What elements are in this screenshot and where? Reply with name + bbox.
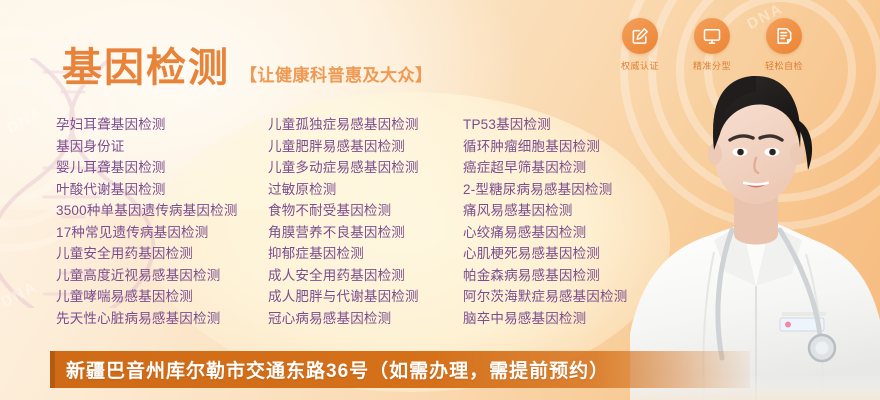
list-item: 儿童哮喘易感基因检测 bbox=[56, 286, 268, 308]
list-item: 儿童安全用药基因检测 bbox=[56, 243, 268, 265]
page-title: 基因检测 bbox=[62, 48, 230, 88]
feature-badge-easy-self-test[interactable]: 轻松自检 bbox=[756, 18, 812, 72]
test-items-column-2: 儿童孤独症易感基因检测 儿童肥胖易感基因检测 儿童多动症易感基因检测 过敏原检测… bbox=[268, 114, 463, 329]
list-item: 婴儿耳聋基因检测 bbox=[56, 157, 268, 179]
certificate-pen-icon bbox=[630, 26, 650, 46]
feature-icon-circle bbox=[694, 18, 730, 54]
list-item: 心肌梗死易感基因检测 bbox=[463, 243, 693, 265]
list-item: 痛风易感基因检测 bbox=[463, 200, 693, 222]
report-document-icon bbox=[774, 26, 794, 46]
list-item: TP53基因检测 bbox=[463, 114, 693, 136]
page-subtitle: 【让健康科普惠及大众】 bbox=[240, 67, 433, 88]
list-item: 成人肥胖与代谢基因检测 bbox=[268, 286, 463, 308]
gene-testing-promo-banner: DNA DNA DNA 基因检测 【让健康科普惠及大众】 权威认证 bbox=[0, 0, 880, 400]
list-item: 叶酸代谢基因检测 bbox=[56, 179, 268, 201]
list-item: 癌症超早筛基因检测 bbox=[463, 157, 693, 179]
list-item: 脑卒中易感基因检测 bbox=[463, 308, 693, 330]
list-item: 食物不耐受基因检测 bbox=[268, 200, 463, 222]
feature-icon-circle bbox=[622, 18, 658, 54]
list-item: 儿童多动症易感基因检测 bbox=[268, 157, 463, 179]
list-item: 先天性心脏病易感基因检测 bbox=[56, 308, 268, 330]
feature-badge-label: 权威认证 bbox=[621, 59, 659, 72]
feature-icon-circle bbox=[766, 18, 802, 54]
list-item: 儿童孤独症易感基因检测 bbox=[268, 114, 463, 136]
feature-badge-precise-typing[interactable]: 精准分型 bbox=[684, 18, 740, 72]
list-item: 成人安全用药基因检测 bbox=[268, 265, 463, 287]
list-item: 阿尔茨海默症易感基因检测 bbox=[463, 286, 693, 308]
address-banner: 新疆巴音州库尔勒市交通东路36号（如需办理，需提前预约） bbox=[50, 351, 750, 388]
list-item: 心绞痛易感基因检测 bbox=[463, 222, 693, 244]
test-items-columns: 孕妇耳聋基因检测 基因身份证 婴儿耳聋基因检测 叶酸代谢基因检测 3500种单基… bbox=[56, 114, 693, 329]
list-item: 17种常见遗传病基因检测 bbox=[56, 222, 268, 244]
list-item: 帕金森病易感基因检测 bbox=[463, 265, 693, 287]
list-item: 抑郁症基因检测 bbox=[268, 243, 463, 265]
corner-watermark: DNA bbox=[0, 278, 40, 311]
list-item: 孕妇耳聋基因检测 bbox=[56, 114, 268, 136]
list-item: 儿童肥胖易感基因检测 bbox=[268, 136, 463, 158]
list-item: 儿童高度近视易感基因检测 bbox=[56, 265, 268, 287]
corner-watermark: DNA bbox=[4, 104, 46, 137]
list-item: 角膜营养不良基因检测 bbox=[268, 222, 463, 244]
feature-badges: 权威认证 精准分型 轻松自检 bbox=[612, 18, 812, 72]
test-items-column-3: TP53基因检测 循环肿瘤细胞基因检测 癌症超早筛基因检测 2-型糖尿病易感基因… bbox=[463, 114, 693, 329]
headline-group: 基因检测 【让健康科普惠及大众】 bbox=[62, 48, 433, 88]
monitor-screen-icon bbox=[702, 26, 722, 46]
address-text: 新疆巴音州库尔勒市交通东路36号（如需办理，需提前预约） bbox=[50, 356, 609, 383]
test-items-column-1: 孕妇耳聋基因检测 基因身份证 婴儿耳聋基因检测 叶酸代谢基因检测 3500种单基… bbox=[56, 114, 268, 329]
list-item: 冠心病易感基因检测 bbox=[268, 308, 463, 330]
feature-badge-authority-certification[interactable]: 权威认证 bbox=[612, 18, 668, 72]
list-item: 2-型糖尿病易感基因检测 bbox=[463, 179, 693, 201]
list-item: 3500种单基因遗传病基因检测 bbox=[56, 200, 268, 222]
list-item: 基因身份证 bbox=[56, 136, 268, 158]
list-item: 过敏原检测 bbox=[268, 179, 463, 201]
feature-badge-label: 轻松自检 bbox=[765, 59, 803, 72]
feature-badge-label: 精准分型 bbox=[693, 59, 731, 72]
list-item: 循环肿瘤细胞基因检测 bbox=[463, 136, 693, 158]
